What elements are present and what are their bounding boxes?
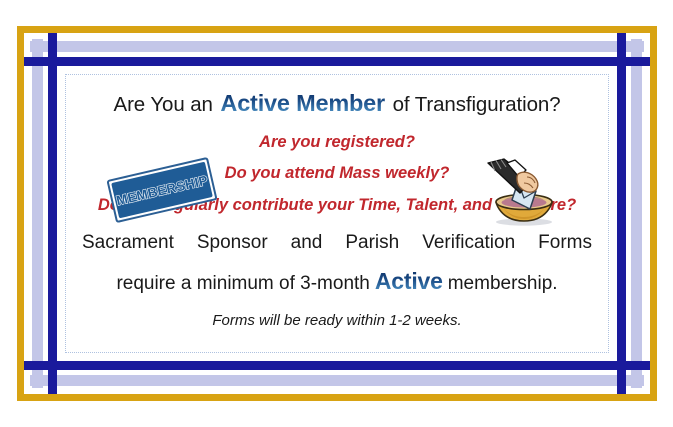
body-word: and: [291, 232, 323, 254]
border-rule-left: [48, 33, 57, 394]
headline-accent: Active Member: [218, 90, 387, 116]
body-word: Forms: [538, 232, 592, 254]
body-line-forms: Sacrament Sponsor and Parish Verificatio…: [80, 232, 594, 254]
offering-basket-icon: [474, 157, 570, 229]
requirement-prefix: require a minimum of 3-month: [116, 273, 369, 294]
border-rule-right: [617, 33, 626, 394]
content-panel: Are You an Active Member of Transfigurat…: [65, 74, 609, 353]
border-band-right: [631, 39, 642, 388]
corner-stud-top-left-horizontal: [32, 57, 41, 66]
body-word: Verification: [422, 232, 515, 254]
requirement-accent: Active: [370, 268, 448, 294]
corner-stud-top-right-horizontal: [633, 57, 642, 66]
border-band-left: [32, 39, 43, 388]
body-line-requirement: require a minimum of 3-monthActivemember…: [80, 268, 594, 295]
body-word: Sponsor: [197, 232, 268, 254]
footnote-turnaround: Forms will be ready within 1-2 weeks.: [80, 312, 594, 329]
body-word: Parish: [345, 232, 399, 254]
flyer-frame: Are You an Active Member of Transfigurat…: [17, 26, 657, 401]
body-word: Sacrament: [82, 232, 174, 254]
border-band-bottom: [30, 375, 644, 386]
border-band-top: [30, 41, 644, 52]
question-registered: Are you registered?: [80, 133, 594, 152]
corner-stud-bottom-left-vertical: [48, 377, 57, 386]
border-rule-top: [24, 57, 650, 66]
requirement-suffix: membership.: [448, 273, 558, 294]
headline-suffix: of Transfiguration?: [387, 93, 561, 116]
offering-basket-graphic: [474, 157, 570, 229]
corner-stud-bottom-right-horizontal: [633, 361, 642, 370]
corner-stud-top-left-vertical: [48, 41, 57, 50]
corner-stud-bottom-left-horizontal: [32, 361, 41, 370]
border-rule-bottom: [24, 361, 650, 370]
page-title: Are You an Active Member of Transfigurat…: [80, 90, 594, 117]
corner-stud-bottom-right-vertical: [617, 377, 626, 386]
headline-prefix: Are You an: [114, 93, 219, 116]
corner-stud-top-right-vertical: [617, 41, 626, 50]
